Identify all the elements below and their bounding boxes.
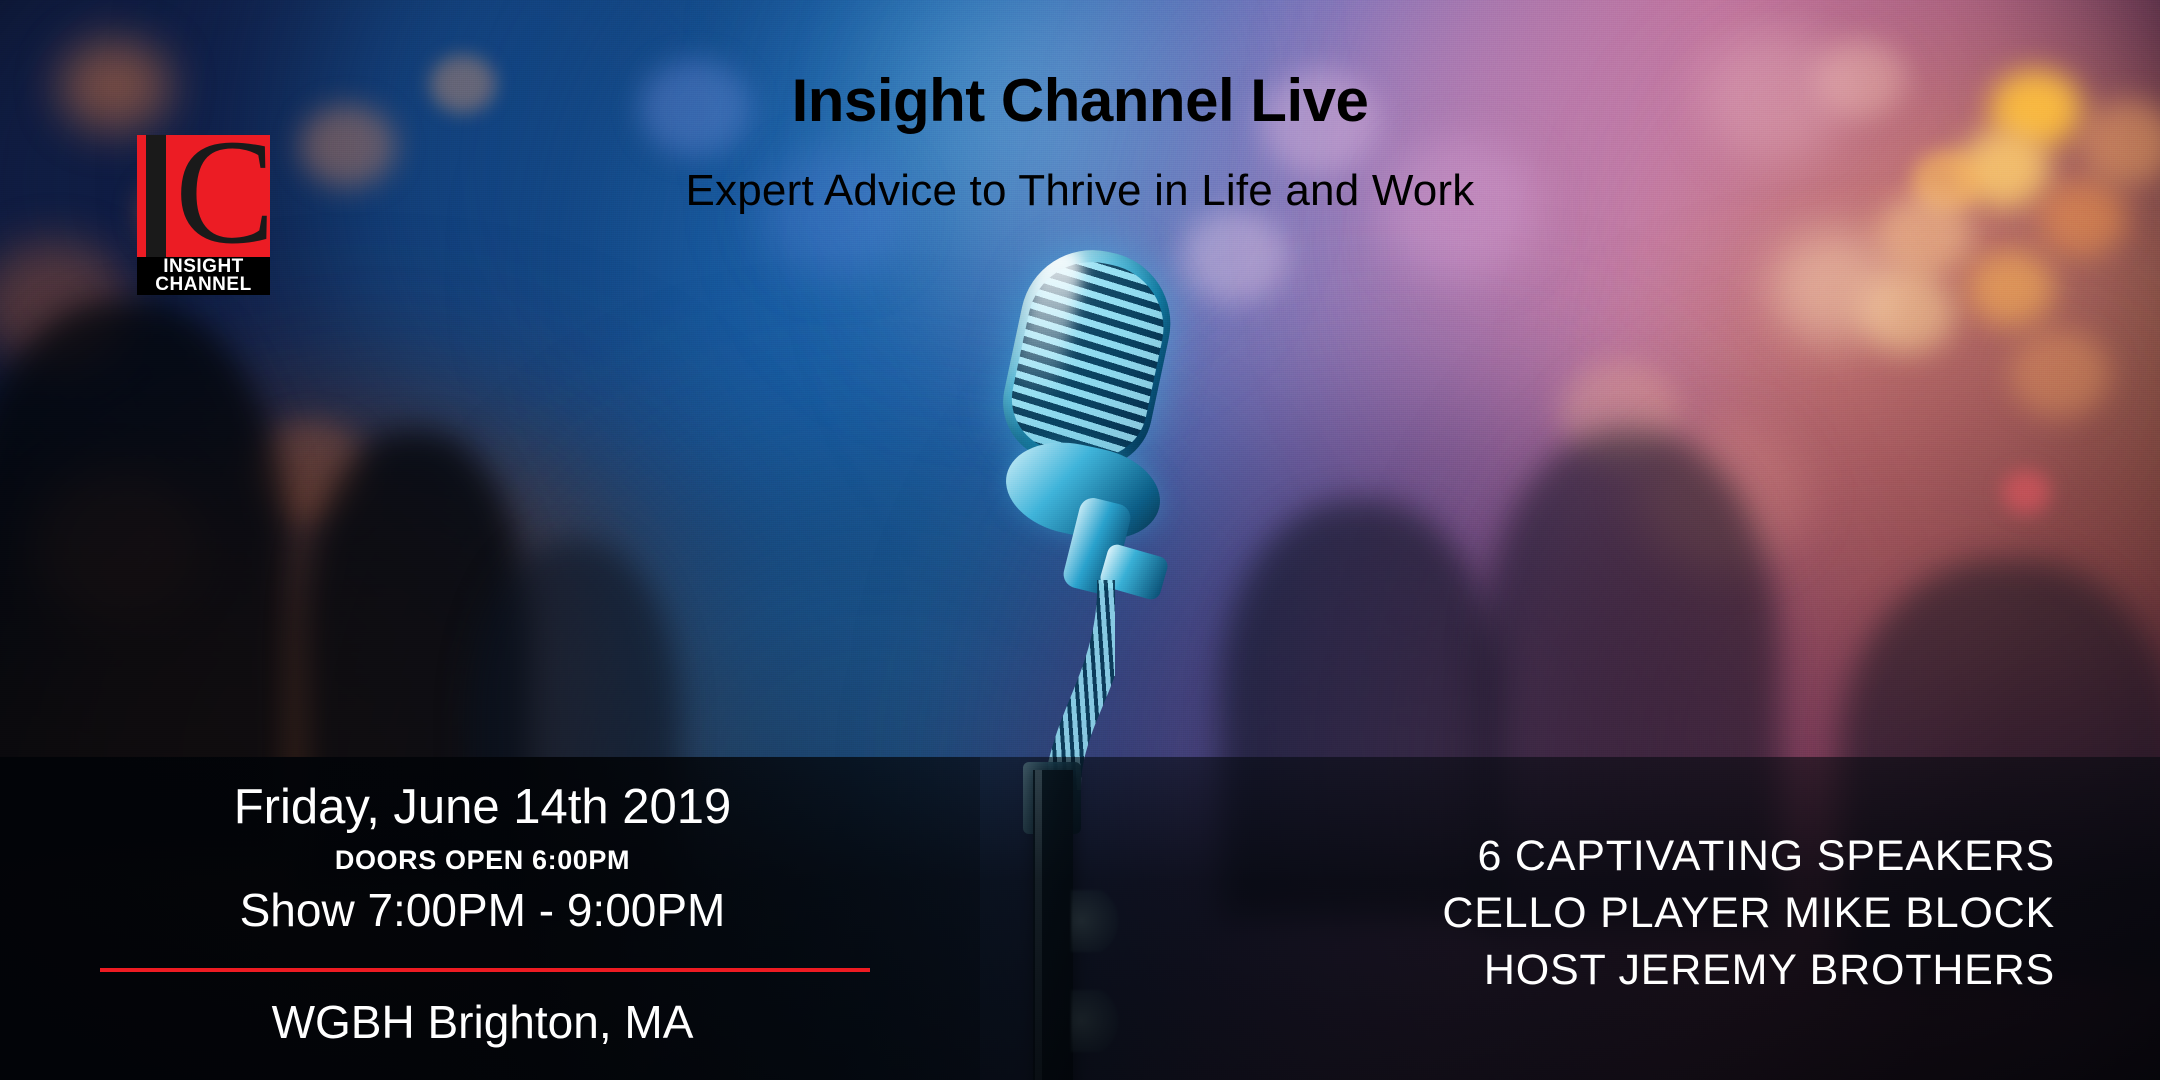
page-title: Insight Channel Live bbox=[0, 66, 2160, 135]
show-time: Show 7:00PM - 9:00PM bbox=[95, 884, 870, 937]
logo-word-channel: CHANNEL bbox=[137, 275, 270, 295]
doors-open-time: DOORS OPEN 6:00PM bbox=[95, 845, 870, 876]
lineup-item-host: HOST JEREMY BROTHERS bbox=[1442, 942, 2055, 999]
page-subtitle: Expert Advice to Thrive in Life and Work bbox=[0, 166, 2160, 216]
lineup-item-cello-player: CELLO PLAYER MIKE BLOCK bbox=[1442, 885, 2055, 942]
event-details: Friday, June 14th 2019 DOORS OPEN 6:00PM… bbox=[95, 780, 870, 937]
lineup-item-speakers: 6 CAPTIVATING SPEAKERS bbox=[1442, 828, 2055, 885]
event-banner: C INSIGHT CHANNEL Insight Channel Live E… bbox=[0, 0, 2160, 1080]
event-date: Friday, June 14th 2019 bbox=[95, 780, 870, 835]
event-lineup: 6 CAPTIVATING SPEAKERS CELLO PLAYER MIKE… bbox=[1442, 828, 2055, 998]
red-divider-rule bbox=[100, 968, 870, 972]
event-venue: WGBH Brighton, MA bbox=[95, 995, 870, 1049]
